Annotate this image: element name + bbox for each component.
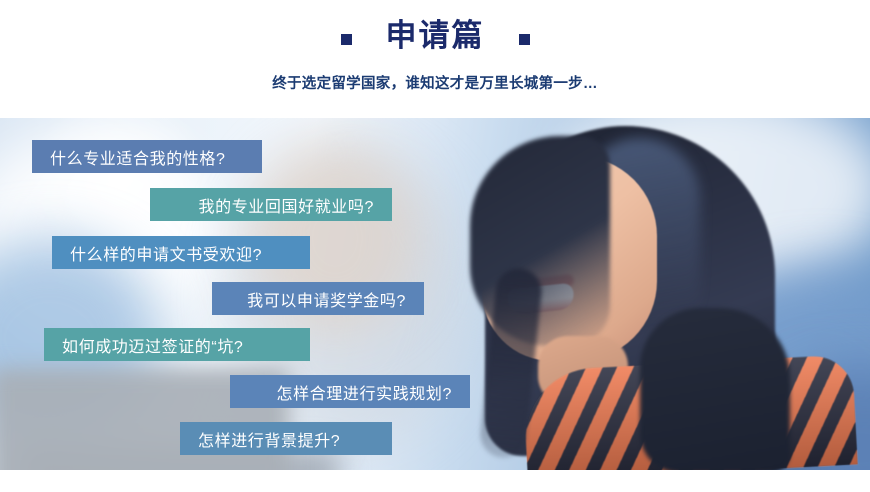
question-label-1-text: 什么专业适合我的性格?	[50, 145, 226, 169]
question-label-2[interactable]: 我的专业回国好就业吗?	[150, 188, 392, 221]
square-bullet-icon-right	[519, 34, 530, 45]
hero-photo: 什么专业适合我的性格? 我的专业回国好就业吗? 什么样的申请文书受欢迎? 我可以…	[0, 118, 870, 470]
square-bullet-icon-left	[341, 34, 352, 45]
question-label-7[interactable]: 怎样进行背景提升?	[180, 422, 392, 455]
page-title-row: 申请篇	[0, 20, 870, 53]
question-label-6[interactable]: 怎样合理进行实践规划?	[230, 375, 470, 408]
page-subtitle: 终于选定留学国家，谁知这才是万里长城第一步…	[0, 72, 870, 93]
question-label-5-text: 如何成功迈过签证的“坑?	[62, 333, 243, 357]
question-label-1[interactable]: 什么专业适合我的性格?	[32, 140, 262, 173]
promo-banner: 申请篇 终于选定留学国家，谁知这才是万里长城第一步…	[0, 0, 870, 492]
question-label-4-text: 我可以申请奖学金吗?	[247, 287, 406, 311]
question-label-2-text: 我的专业回国好就业吗?	[199, 193, 375, 217]
question-label-3[interactable]: 什么样的申请文书受欢迎?	[52, 236, 310, 269]
question-label-5[interactable]: 如何成功迈过签证的“坑?	[44, 328, 310, 361]
question-label-3-text: 什么样的申请文书受欢迎?	[70, 241, 262, 265]
page-title: 申请篇	[386, 20, 485, 53]
question-label-7-text: 怎样进行背景提升?	[198, 427, 340, 451]
footer-spacer	[0, 470, 870, 492]
hair-over-shoulder	[640, 308, 790, 470]
question-label-4[interactable]: 我可以申请奖学金吗?	[212, 282, 424, 315]
question-label-6-text: 怎样合理进行实践规划?	[277, 380, 453, 404]
banner-header: 申请篇 终于选定留学国家，谁知这才是万里长城第一步…	[0, 0, 870, 118]
hair-front	[470, 136, 610, 346]
student-figure	[430, 118, 870, 470]
